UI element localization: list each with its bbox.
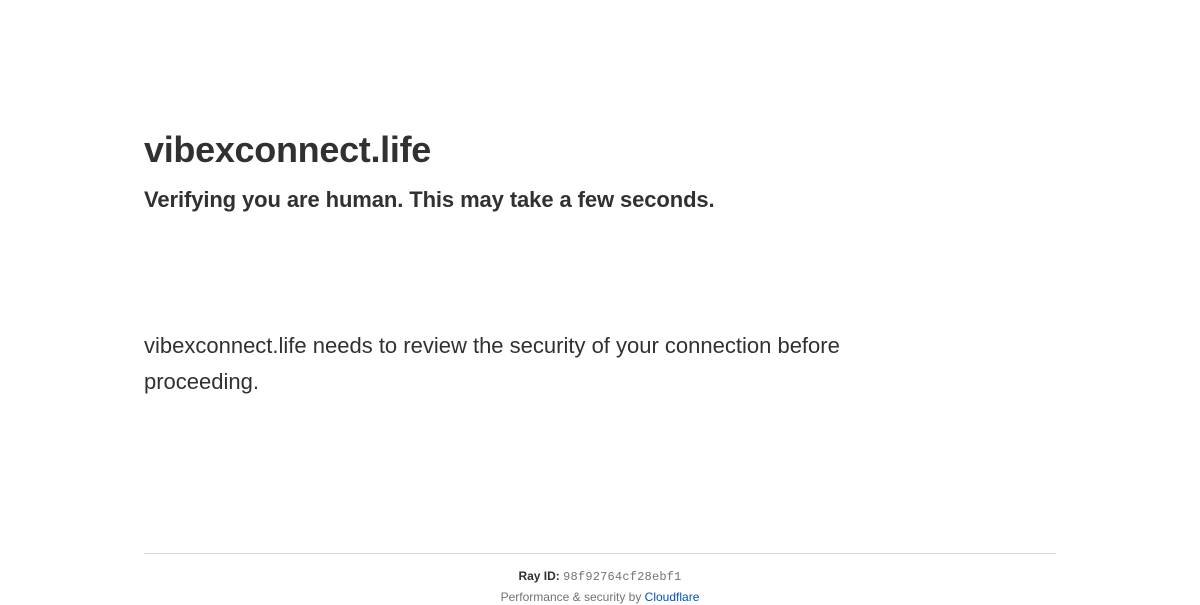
turnstile-challenge-widget[interactable] [144, 236, 444, 308]
challenge-page: vibexconnect.life Verifying you are huma… [0, 0, 1200, 600]
ray-id-line: Ray ID: 98f92764cf28ebf1 [144, 568, 1056, 585]
verification-status-text: Verifying you are human. This may take a… [144, 186, 1056, 214]
attribution-prefix: Performance & security by [501, 590, 645, 604]
content-container: vibexconnect.life Verifying you are huma… [144, 0, 1056, 400]
attribution-line: Performance & security by Cloudflare [144, 589, 1056, 605]
ray-id-value: 98f92764cf28ebf1 [563, 570, 681, 584]
footer: Ray ID: 98f92764cf28ebf1 Performance & s… [144, 553, 1056, 605]
main-content: vibexconnect.life Verifying you are huma… [144, 0, 1056, 400]
cloudflare-link[interactable]: Cloudflare [645, 590, 700, 604]
page-title: vibexconnect.life [144, 128, 1056, 172]
ray-id-label: Ray ID: [518, 569, 559, 583]
security-review-message: vibexconnect.life needs to review the se… [144, 328, 944, 400]
